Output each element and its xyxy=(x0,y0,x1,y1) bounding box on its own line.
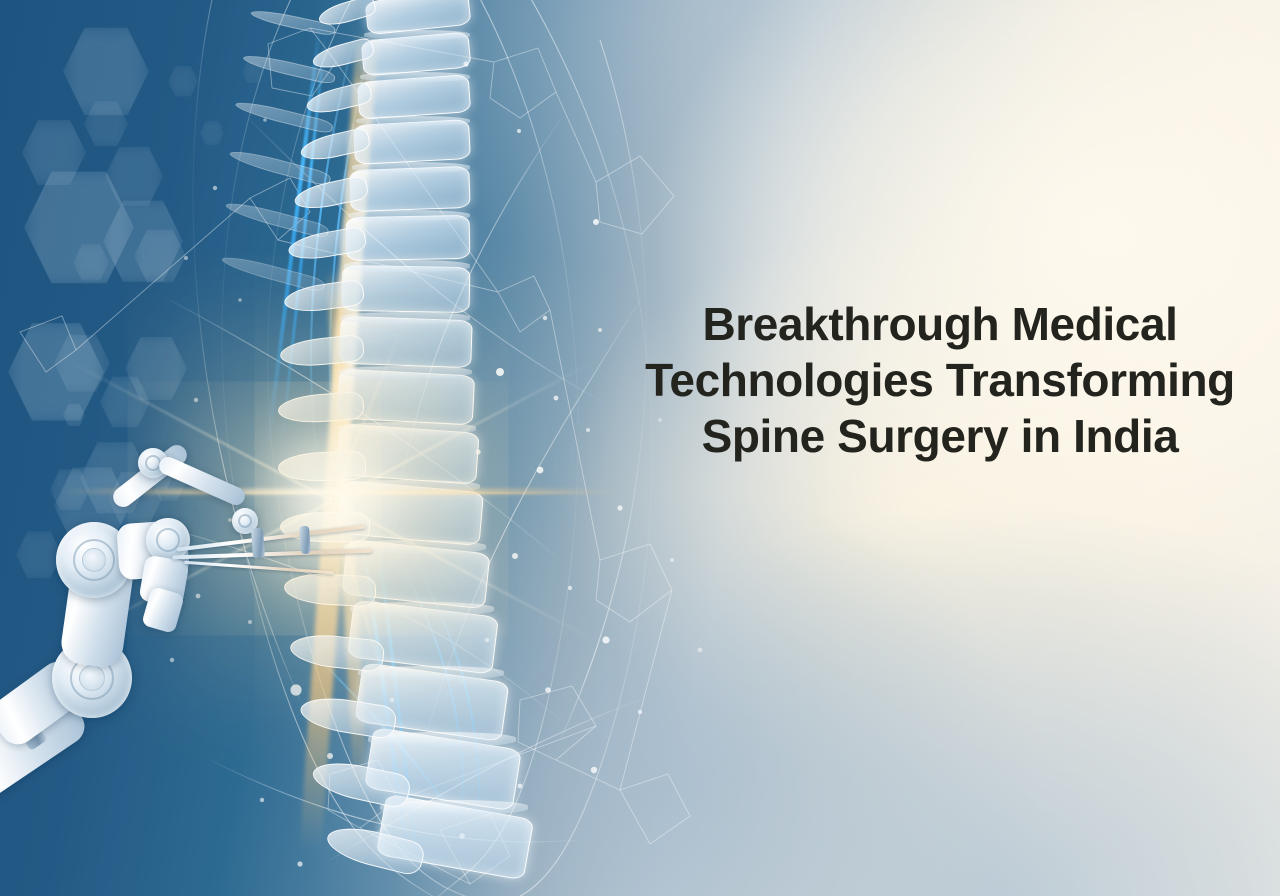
title-line-1: Breakthrough Medical xyxy=(640,296,1240,352)
title-line-3: Spine Surgery in India xyxy=(640,408,1240,464)
headline-block: Breakthrough Medical Technologies Transf… xyxy=(640,296,1240,464)
central-light-flare xyxy=(332,500,334,502)
robotic-surgical-arm xyxy=(0,470,330,896)
title-line-2: Technologies Transforming xyxy=(640,352,1240,408)
banner-root: Breakthrough Medical Technologies Transf… xyxy=(0,0,1280,896)
page-title: Breakthrough Medical Technologies Transf… xyxy=(640,296,1240,464)
